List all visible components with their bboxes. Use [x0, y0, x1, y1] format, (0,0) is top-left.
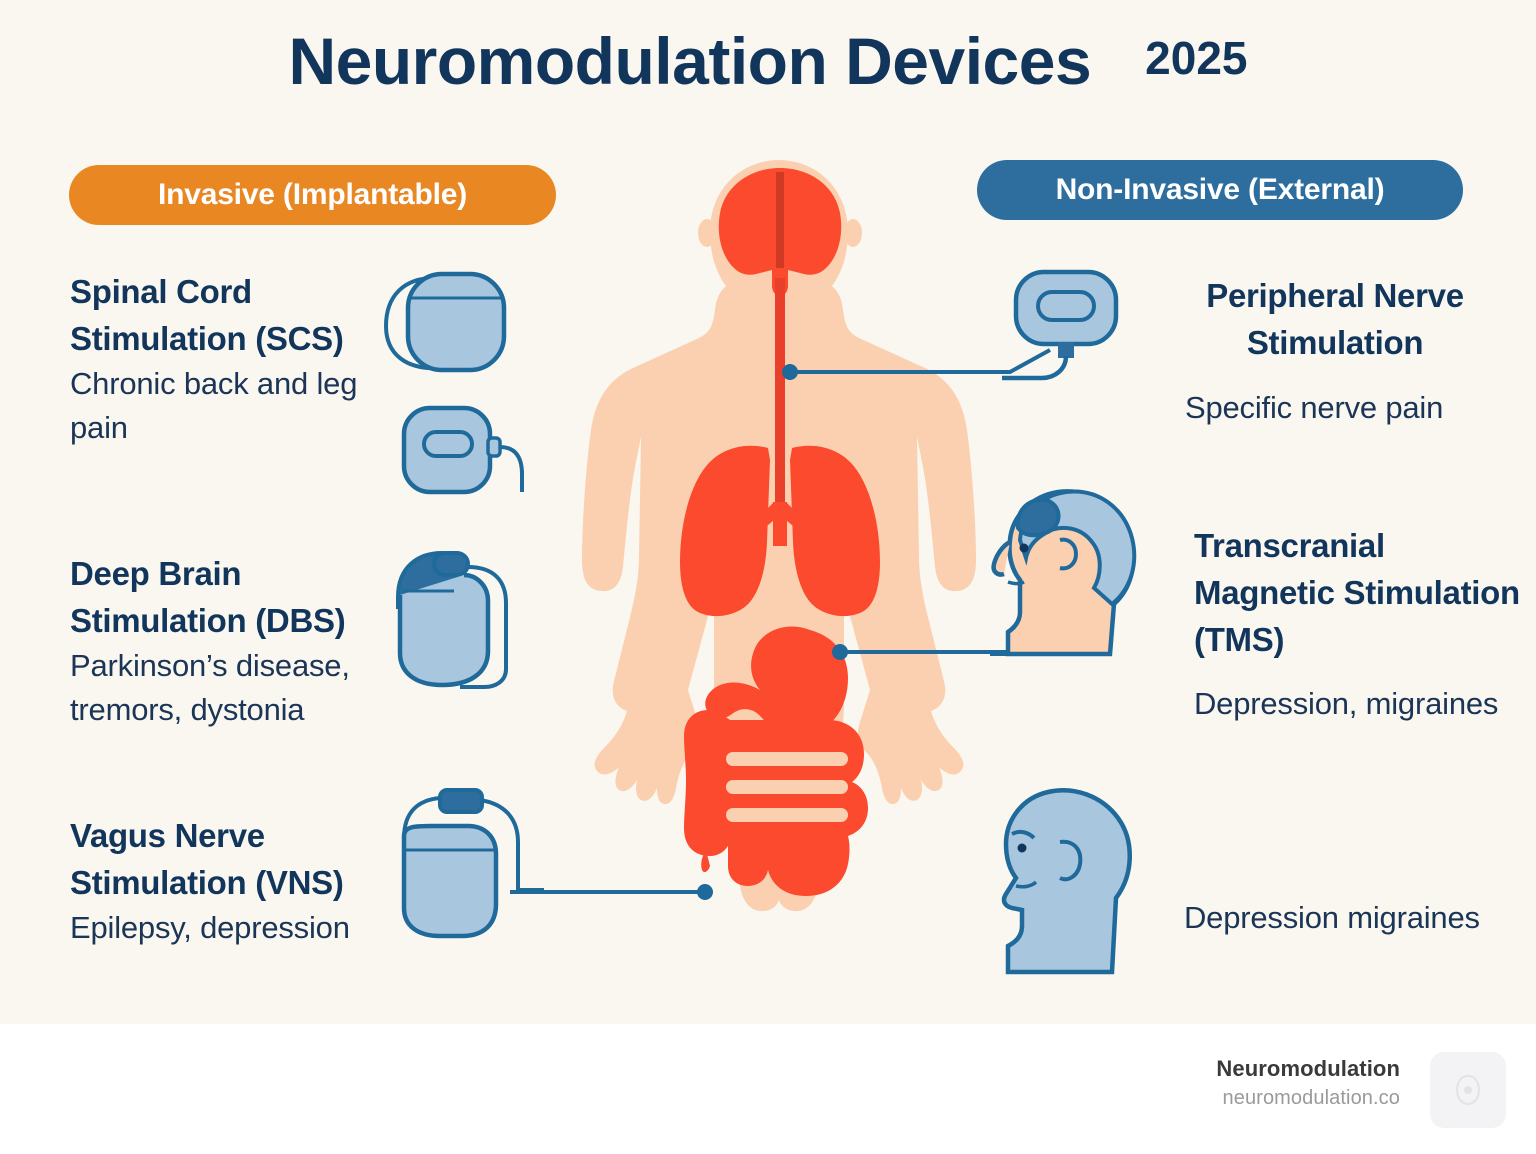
head-with-tms-coil-icon: [990, 482, 1150, 667]
entry-dbs: Deep Brain Stimulation (DBS) Parkinson’s…: [70, 550, 410, 732]
entry-dbs-title: Deep Brain Stimulation (DBS): [70, 550, 410, 644]
entry-pns-title: Peripheral Nerve Stimulation: [1140, 272, 1530, 366]
badge-invasive: Invasive (Implantable): [69, 165, 556, 225]
entry-tms-description: Depression, migraines: [1194, 682, 1524, 726]
page-title-text: Neuromodulation Devices: [288, 24, 1091, 98]
entry-pns-description: Specific nerve pain: [1185, 386, 1530, 430]
external-stimulator-pod-icon: [1002, 266, 1132, 381]
badge-non-invasive: Non-Invasive (External): [977, 160, 1463, 220]
brand-name: Neuromodulation: [1216, 1056, 1400, 1082]
entry-tms-title: Transcranial Magnetic Stimulation (TMS): [1194, 522, 1524, 664]
badge-invasive-label: Invasive (Implantable): [158, 178, 467, 212]
badge-non-invasive-label: Non-Invasive (External): [1056, 173, 1385, 207]
implantable-pulse-generator-with-lead-icon: [398, 400, 528, 500]
implantable-pulse-generator-icon: [378, 268, 518, 378]
entry-vns-title: Vagus Nerve Stimulation (VNS): [70, 812, 430, 906]
brand-block: Neuromodulation neuromodulation.co: [1216, 1056, 1400, 1110]
entry-vns-description: Epilepsy, depression: [70, 906, 430, 950]
entry-tms: Transcranial Magnetic Stimulation (TMS) …: [1194, 522, 1524, 726]
brand-url: neuromodulation.co: [1216, 1087, 1400, 1110]
head-profile-icon: [982, 782, 1147, 977]
page-title: Neuromodulation Devices2025: [0, 28, 1536, 94]
intestines-icon: [684, 710, 868, 896]
entry-head-plain: Depression migraines: [1184, 896, 1514, 940]
entry-scs-description: Chronic back and leg pain: [70, 362, 370, 450]
page-year: 2025: [1145, 32, 1247, 84]
entry-dbs-description: Parkinson’s disease, tremors, dystonia: [70, 644, 410, 732]
dbs-neurostimulator-icon: [390, 545, 540, 695]
entry-head-plain-description: Depression migraines: [1184, 896, 1514, 940]
entry-scs-title: Spinal Cord Stimulation (SCS): [70, 268, 370, 362]
vns-generator-icon: [396, 786, 546, 946]
entry-pns: Peripheral Nerve Stimulation Specific ne…: [1140, 272, 1530, 430]
brand-logo-icon: [1430, 1052, 1506, 1128]
spinal-cord-icon: [775, 278, 785, 538]
entry-vns: Vagus Nerve Stimulation (VNS) Epilepsy, …: [70, 812, 430, 950]
entry-scs: Spinal Cord Stimulation (SCS) Chronic ba…: [70, 268, 370, 450]
